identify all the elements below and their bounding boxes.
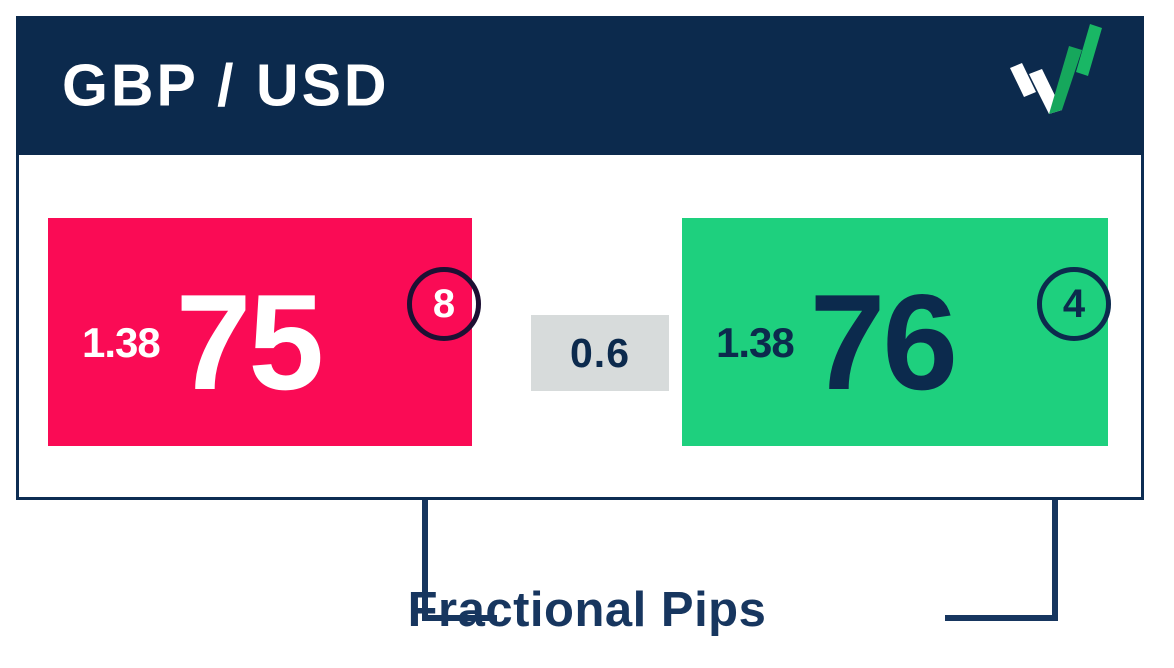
bid-fractional-pip-circle: 8 [407,267,481,341]
ask-price-box[interactable]: 1.38 76 [682,218,1108,446]
ask-pips: 76 [810,274,955,410]
spread-value-chip: 0.6 [531,315,669,391]
fractional-pips-label: Fractional Pips [0,586,1174,635]
bid-big-figure: 1.38 [82,322,160,364]
bid-price-inner: 1.38 75 [48,264,472,400]
price-row: 1.38 75 1.38 76 0.6 8 4 [19,19,1141,497]
bid-price-box[interactable]: 1.38 75 [48,218,472,446]
ask-big-figure: 1.38 [716,322,794,364]
ask-fractional-pip-circle: 4 [1037,267,1111,341]
fx-quote-card: GBP / USD 1.38 75 1.3 [16,16,1144,500]
bid-pips: 75 [176,274,321,410]
